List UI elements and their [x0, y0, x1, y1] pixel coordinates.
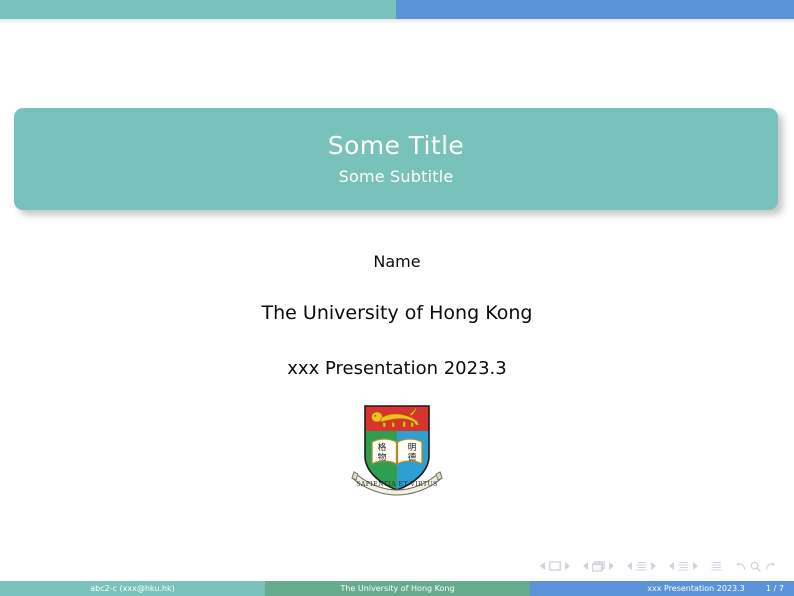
- headline-bar-shadow: [0, 19, 794, 24]
- nav-group-subsection[interactable]: [627, 561, 656, 572]
- crest-char-right-top: 明: [408, 443, 417, 453]
- back-icon[interactable]: [735, 561, 746, 572]
- footer-institute: The University of Hong Kong: [265, 581, 530, 596]
- crest-char-right-bottom: 德: [408, 452, 417, 463]
- subsection-icon[interactable]: [636, 561, 647, 572]
- frame-icon[interactable]: [592, 561, 605, 572]
- document-icon[interactable]: [711, 561, 722, 572]
- title-block: Some Title Some Subtitle: [14, 108, 778, 210]
- footer-bar: abc2-c (xxx@hku.hk) The University of Ho…: [0, 581, 794, 596]
- hku-crest-icon: 格 物 明 德 SAPIENTIA ET VIRTUS: [347, 398, 447, 498]
- slide-title: Some Title: [328, 132, 464, 160]
- section-prev-icon[interactable]: [669, 562, 675, 570]
- slide-next-icon[interactable]: [564, 562, 570, 570]
- svg-text:SAPIENTIA ET VIRTUS: SAPIENTIA ET VIRTUS: [356, 481, 438, 488]
- footer-page-number: 1 / 7: [766, 581, 784, 596]
- subsection-next-icon[interactable]: [650, 562, 656, 570]
- section-icon[interactable]: [678, 561, 689, 572]
- hku-crest-logo: 格 物 明 德 SAPIENTIA ET VIRTUS: [347, 398, 447, 498]
- headline-bar-blue-segment: [396, 0, 794, 19]
- footer-date: xxx Presentation 2023.3: [530, 581, 794, 596]
- find-icon[interactable]: [750, 561, 761, 572]
- institute-name: The University of Hong Kong: [0, 302, 794, 324]
- slide-subtitle: Some Subtitle: [339, 168, 454, 186]
- presentation-date: xxx Presentation 2023.3: [0, 358, 794, 379]
- footer-author: abc2-c (xxx@hku.hk): [0, 581, 265, 596]
- section-next-icon[interactable]: [692, 562, 698, 570]
- nav-group-frame[interactable]: [583, 561, 614, 572]
- frame-prev-icon[interactable]: [583, 562, 589, 570]
- headline-bar-teal-segment: [0, 0, 396, 19]
- slide-prev-icon[interactable]: [540, 562, 546, 570]
- headline-bar: [0, 0, 794, 19]
- nav-group-section[interactable]: [669, 561, 698, 572]
- nav-group-document[interactable]: [711, 561, 722, 572]
- nav-group-slide[interactable]: [540, 561, 570, 571]
- frame-next-icon[interactable]: [608, 562, 614, 570]
- forward-icon[interactable]: [765, 561, 776, 572]
- beamer-navigation-symbols[interactable]: [0, 558, 794, 574]
- slide-icon[interactable]: [549, 561, 561, 571]
- crest-char-left-bottom: 物: [378, 452, 387, 463]
- subsection-prev-icon[interactable]: [627, 562, 633, 570]
- nav-group-back-find-forward[interactable]: [735, 561, 776, 572]
- crest-char-left-top: 格: [378, 442, 387, 453]
- author-name: Name: [0, 252, 794, 271]
